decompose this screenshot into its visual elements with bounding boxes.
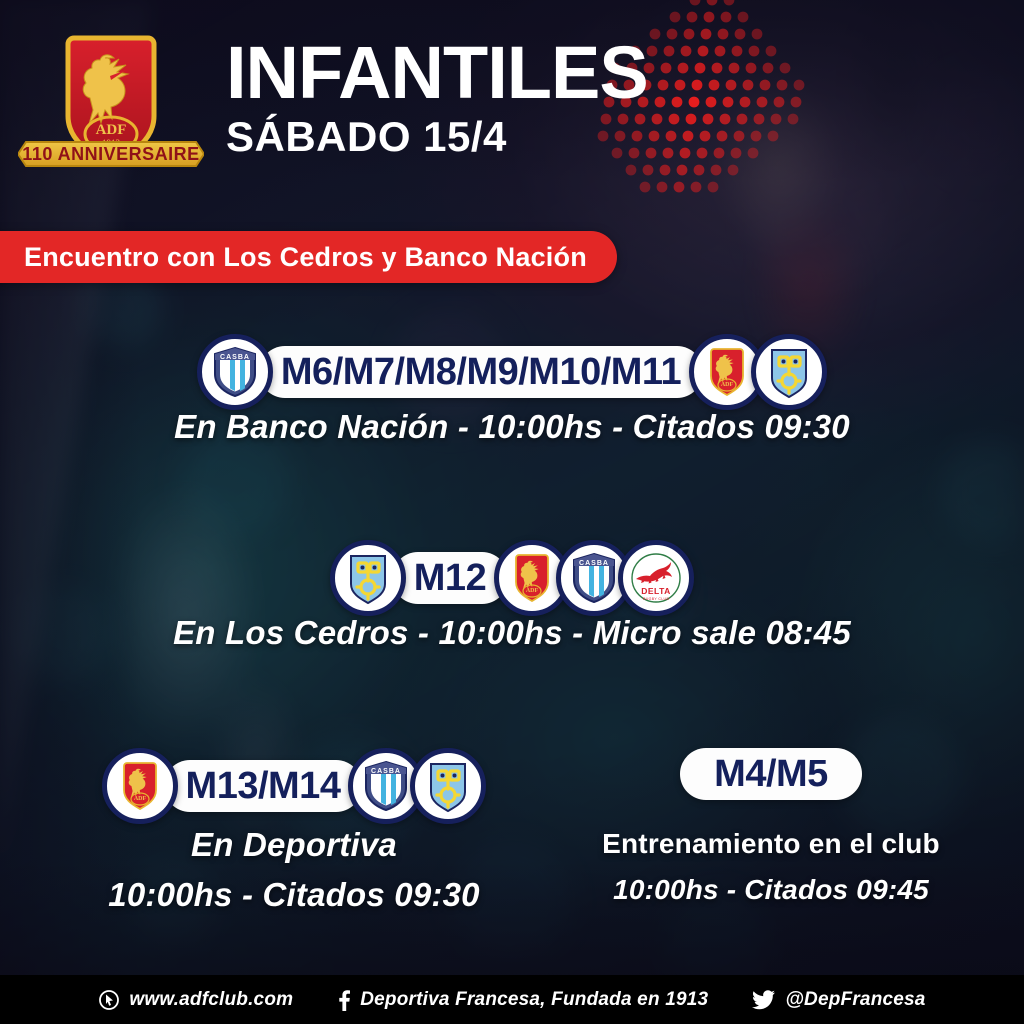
match-row-3: M13/M14 En Deportiva 10:00hs - Citados 0…: [34, 748, 554, 824]
page-title: INFANTILES: [226, 36, 648, 110]
match-row-2-caption: En Los Cedros - 10:00hs - Micro sale 08:…: [0, 614, 1024, 652]
match-row-4-caption-line2: 10:00hs - Citados 09:45: [546, 874, 996, 906]
footer-website[interactable]: www.adfclub.com: [98, 989, 293, 1011]
match-row-2-label: M12: [414, 559, 486, 597]
header: ADF 1913 110 ANNIVERSAIRE INFANTILES SÁB…: [0, 0, 1024, 200]
title-block: INFANTILES SÁBADO 15/4: [226, 36, 648, 158]
match-row-1-group: M6/M7/M8/M9/M10/M11: [0, 334, 1024, 410]
event-banner: Encuentro con Los Cedros y Banco Nación: [0, 231, 617, 283]
match-row-1-caption: En Banco Nación - 10:00hs - Citados 09:3…: [0, 408, 1024, 446]
twitter-icon: [752, 990, 776, 1010]
match-row-4-caption-line1: Entrenamiento en el club: [546, 828, 996, 860]
poster-canvas: ADF 1913 110 ANNIVERSAIRE INFANTILES SÁB…: [0, 0, 1024, 1024]
page-subtitle: SÁBADO 15/4: [226, 116, 648, 158]
footer-facebook-text: Deportiva Francesa, Fundada en 1913: [360, 989, 708, 1011]
loscedros-badge: [751, 334, 827, 410]
match-row-4-pill[interactable]: M4/M5: [680, 748, 862, 800]
event-banner-text: Encuentro con Los Cedros y Banco Nación: [24, 242, 587, 273]
match-row-4-group: M4/M5: [546, 748, 996, 800]
match-row-3-pill[interactable]: M13/M14: [164, 760, 363, 812]
match-row-3-caption-line1: En Deportiva: [34, 826, 554, 864]
match-row-1: M6/M7/M8/M9/M10/M11 En Banco Nación - 10…: [0, 334, 1024, 410]
footer-twitter-text: @DepFrancesa: [785, 989, 925, 1011]
match-row-3-group: M13/M14: [34, 748, 554, 824]
match-row-4: M4/M5 Entrenamiento en el club 10:00hs -…: [546, 748, 996, 800]
delta-badge: [618, 540, 694, 616]
loscedros-badge: [330, 540, 406, 616]
logo-anniversary-text: 110 ANNIVERSAIRE: [22, 144, 199, 164]
match-row-2-pill[interactable]: M12: [392, 552, 508, 604]
match-row-2: M12 En Los Cedros - 10:00hs - Micro sale…: [0, 540, 1024, 616]
footer-facebook[interactable]: Deportiva Francesa, Fundada en 1913: [337, 989, 708, 1011]
match-row-1-pill[interactable]: M6/M7/M8/M9/M10/M11: [259, 346, 703, 398]
match-row-3-label: M13/M14: [186, 767, 341, 805]
footer-twitter[interactable]: @DepFrancesa: [752, 989, 925, 1011]
casba-badge: [197, 334, 273, 410]
adf-badge: [102, 748, 178, 824]
match-row-1-label: M6/M7/M8/M9/M10/M11: [281, 353, 681, 391]
logo-crest-initials: ADF: [96, 122, 127, 138]
footer-website-text: www.adfclub.com: [129, 989, 293, 1011]
loscedros-badge: [410, 748, 486, 824]
footer-bar: www.adfclub.com Deportiva Francesa, Fund…: [0, 975, 1024, 1024]
match-row-3-caption-line2: 10:00hs - Citados 09:30: [34, 876, 554, 914]
cursor-circle-icon: [98, 989, 120, 1011]
match-row-2-group: M12: [0, 540, 1024, 616]
match-row-4-label: M4/M5: [714, 755, 828, 793]
facebook-icon: [337, 989, 351, 1011]
adf-club-logo: ADF 1913 110 ANNIVERSAIRE: [18, 30, 204, 178]
